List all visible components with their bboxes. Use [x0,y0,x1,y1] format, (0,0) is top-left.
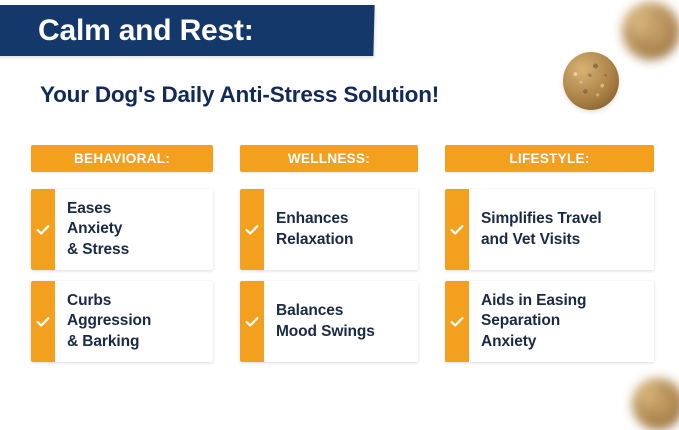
benefit-line: & Stress [67,240,205,261]
dog-treat-top-right-blurred-image [622,2,679,60]
dog-treat-bottom-right-blurred-image [632,378,679,430]
benefit-line: Simplifies Travel [481,209,646,230]
benefit-card[interactable]: Enhances Relaxation [240,189,418,270]
benefit-card[interactable]: Curbs Aggression & Barking [31,281,213,362]
treat-texture [622,2,679,60]
benefit-line: Eases [67,199,205,220]
page-subtitle: Your Dog's Daily Anti-Stress Solution! [40,82,439,108]
benefit-text: Curbs Aggression & Barking [55,281,213,362]
benefit-line: Mood Swings [276,322,410,343]
page-title: Calm and Rest: [38,5,254,56]
title-banner: Calm and Rest: [0,5,375,56]
benefits-columns: BEHAVIORAL: Eases Anxiety & Stress [31,145,656,362]
treat-texture [563,52,619,110]
benefit-card-list-behavioral: Eases Anxiety & Stress Curbs Aggression … [31,189,213,362]
benefit-line: Separation [481,311,646,332]
benefit-text: Eases Anxiety & Stress [55,189,213,270]
benefit-column-behavioral: BEHAVIORAL: Eases Anxiety & Stress [31,145,213,362]
benefit-card[interactable]: Aids in Easing Separation Anxiety [445,281,654,362]
benefit-card-list-lifestyle: Simplifies Travel and Vet Visits Aids in… [445,189,654,362]
benefit-text: Balances Mood Swings [264,281,418,362]
benefit-line: Relaxation [276,230,410,251]
check-icon [445,281,469,362]
category-header-lifestyle: LIFESTYLE: [445,145,654,172]
treat-texture [632,378,679,430]
check-icon [445,189,469,270]
benefit-card-list-wellness: Enhances Relaxation Balances Mood Swings [240,189,418,362]
benefit-card[interactable]: Balances Mood Swings [240,281,418,362]
benefit-text: Enhances Relaxation [264,189,418,270]
benefit-text: Simplifies Travel and Vet Visits [469,189,654,270]
benefit-line: Anxiety [67,219,205,240]
check-icon [31,281,55,362]
benefit-line: Anxiety [481,332,646,353]
check-icon [240,281,264,362]
check-icon [240,189,264,270]
category-header-behavioral: BEHAVIORAL: [31,145,213,172]
benefit-line: Aggression [67,311,205,332]
benefit-line: Curbs [67,291,205,312]
benefit-column-wellness: WELLNESS: Enhances Relaxation [240,145,418,362]
benefit-line: Enhances [276,209,410,230]
benefit-line: Balances [276,301,410,322]
benefit-card[interactable]: Eases Anxiety & Stress [31,189,213,270]
benefit-card[interactable]: Simplifies Travel and Vet Visits [445,189,654,270]
benefit-line: & Barking [67,332,205,353]
benefit-line: Aids in Easing [481,291,646,312]
dog-treat-hero-image [563,52,619,110]
category-header-wellness: WELLNESS: [240,145,418,172]
benefit-column-lifestyle: LIFESTYLE: Simplifies Travel and Vet Vis… [445,145,654,362]
check-icon [31,189,55,270]
benefit-line: and Vet Visits [481,230,646,251]
benefit-text: Aids in Easing Separation Anxiety [469,281,654,362]
